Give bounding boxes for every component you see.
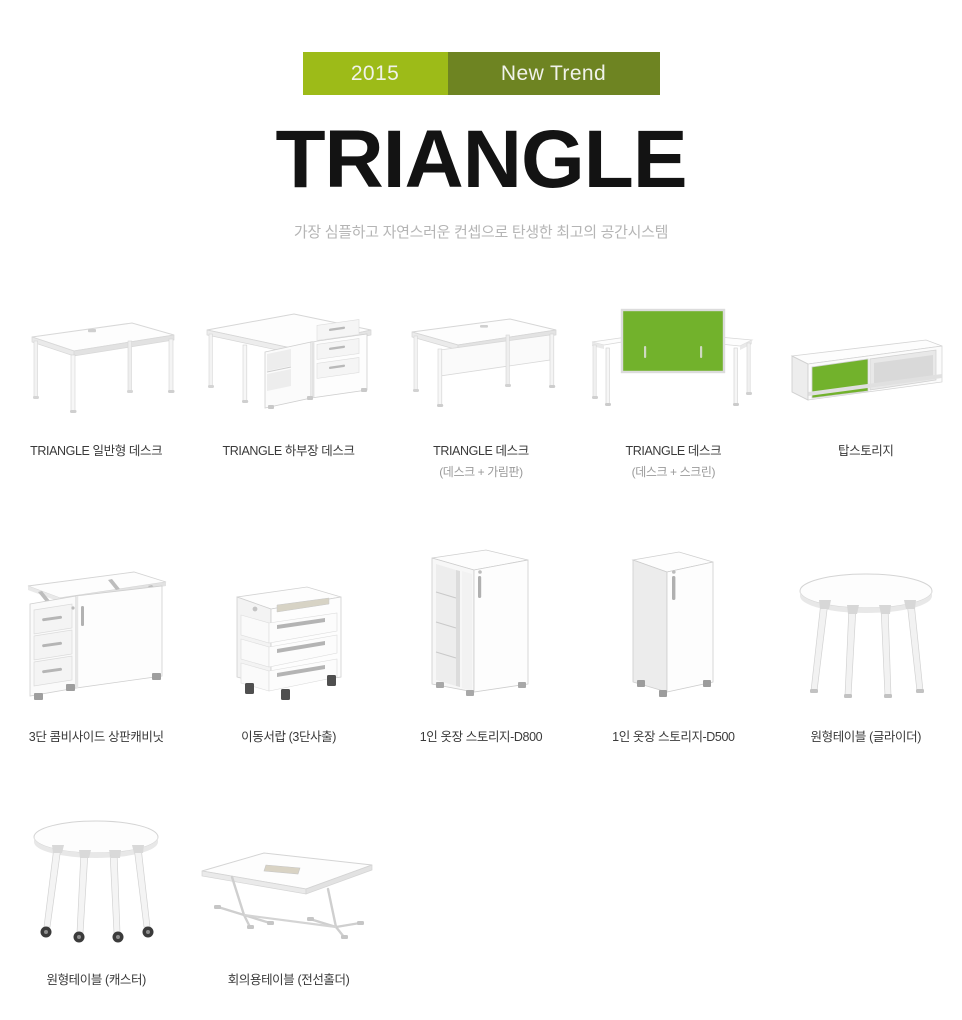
product-label: 회의용테이블 (전선홀더) — [228, 971, 350, 990]
round-table-glider-icon — [770, 544, 962, 704]
product-card[interactable]: 원형테이블 (캐스터) — [0, 803, 192, 990]
product-label: 이동서랍 (3단사출) — [241, 728, 336, 747]
product-label: 1인 옷장 스토리지-D800 — [420, 728, 542, 747]
top-storage-icon — [770, 298, 962, 414]
product-label: 1인 옷장 스토리지-D500 — [612, 728, 734, 747]
conference-table-icon — [193, 803, 385, 943]
page-title: TRIANGLE — [0, 119, 962, 201]
page-subtitle: 가장 심플하고 자연스러운 컨셉으로 탄생한 최고의 공간시스템 — [0, 221, 962, 242]
page-header: 2015 New Trend TRIANGLE 가장 심플하고 자연스러운 컨셉… — [0, 0, 962, 242]
product-sublabel-text: (데스크 + 스크린) — [626, 463, 722, 482]
product-label-text: 탑스토리지 — [838, 444, 894, 458]
product-label: 원형테이블 (캐스터) — [46, 971, 145, 990]
product-card[interactable]: 원형테이블 (글라이더) — [770, 544, 962, 747]
badge-new-trend: New Trend — [448, 52, 660, 95]
product-card[interactable]: TRIANGLE 일반형 데스크 — [0, 298, 192, 482]
product-card[interactable]: 1인 옷장 스토리지-D800 — [385, 544, 577, 747]
product-row: 원형테이블 (캐스터) — [0, 803, 962, 990]
product-label-text: 회의용테이블 (전선홀더) — [228, 973, 350, 987]
desk-plain-icon — [0, 298, 192, 414]
product-card[interactable]: 1인 옷장 스토리지-D500 — [577, 544, 769, 747]
product-label-text: TRIANGLE 데스크 — [433, 444, 529, 458]
product-label-text: TRIANGLE 하부장 데스크 — [223, 444, 355, 458]
product-label: 3단 콤비사이드 상판캐비닛 — [29, 728, 164, 747]
product-label-text: TRIANGLE 데스크 — [626, 444, 722, 458]
wardrobe-storage-d800-icon — [385, 544, 577, 704]
product-grid: TRIANGLE 일반형 데스크 — [0, 298, 962, 991]
badge-year: 2015 — [303, 52, 448, 95]
product-label-text: 1인 옷장 스토리지-D800 — [420, 730, 542, 744]
product-row: TRIANGLE 일반형 데스크 — [0, 298, 962, 482]
product-card[interactable]: 회의용테이블 (전선홀더) — [192, 803, 384, 990]
product-label-text: 1인 옷장 스토리지-D500 — [612, 730, 734, 744]
combi-side-cabinet-icon — [0, 544, 192, 704]
round-table-caster-icon — [0, 803, 192, 943]
mobile-pedestal-icon — [193, 544, 385, 704]
product-card[interactable]: 3단 콤비사이드 상판캐비닛 — [0, 544, 192, 747]
product-label: 원형테이블 (글라이더) — [811, 728, 922, 747]
catalog-page: 2015 New Trend TRIANGLE 가장 심플하고 자연스러운 컨셉… — [0, 0, 962, 1020]
product-label: TRIANGLE 데스크 (데스크 + 가림판) — [433, 442, 529, 482]
product-card[interactable]: 탑스토리지 — [770, 298, 962, 482]
grid-spacer — [577, 803, 769, 990]
wardrobe-storage-d500-icon — [577, 544, 769, 704]
product-card[interactable]: TRIANGLE 데스크 (데스크 + 가림판) — [385, 298, 577, 482]
product-card[interactable]: TRIANGLE 하부장 데스크 — [192, 298, 384, 482]
product-label: 탑스토리지 — [838, 442, 894, 461]
desk-green-screen-icon — [577, 298, 769, 414]
desk-modesty-panel-icon — [385, 298, 577, 414]
product-sublabel-text: (데스크 + 가림판) — [433, 463, 529, 482]
desk-l-cabinet-icon — [193, 298, 385, 414]
product-label-text: 원형테이블 (글라이더) — [811, 730, 922, 744]
badge-row: 2015 New Trend — [0, 52, 962, 95]
product-label-text: 3단 콤비사이드 상판캐비닛 — [29, 730, 164, 744]
product-row: 3단 콤비사이드 상판캐비닛 — [0, 544, 962, 747]
product-label-text: TRIANGLE 일반형 데스크 — [30, 444, 162, 458]
product-card[interactable]: TRIANGLE 데스크 (데스크 + 스크린) — [577, 298, 769, 482]
product-label-text: 원형테이블 (캐스터) — [46, 973, 145, 987]
product-label-text: 이동서랍 (3단사출) — [241, 730, 336, 744]
product-card[interactable]: 이동서랍 (3단사출) — [192, 544, 384, 747]
grid-spacer — [385, 803, 577, 990]
product-label: TRIANGLE 데스크 (데스크 + 스크린) — [626, 442, 722, 482]
product-label: TRIANGLE 하부장 데스크 — [223, 442, 355, 461]
product-label: TRIANGLE 일반형 데스크 — [30, 442, 162, 461]
grid-spacer — [770, 803, 962, 990]
